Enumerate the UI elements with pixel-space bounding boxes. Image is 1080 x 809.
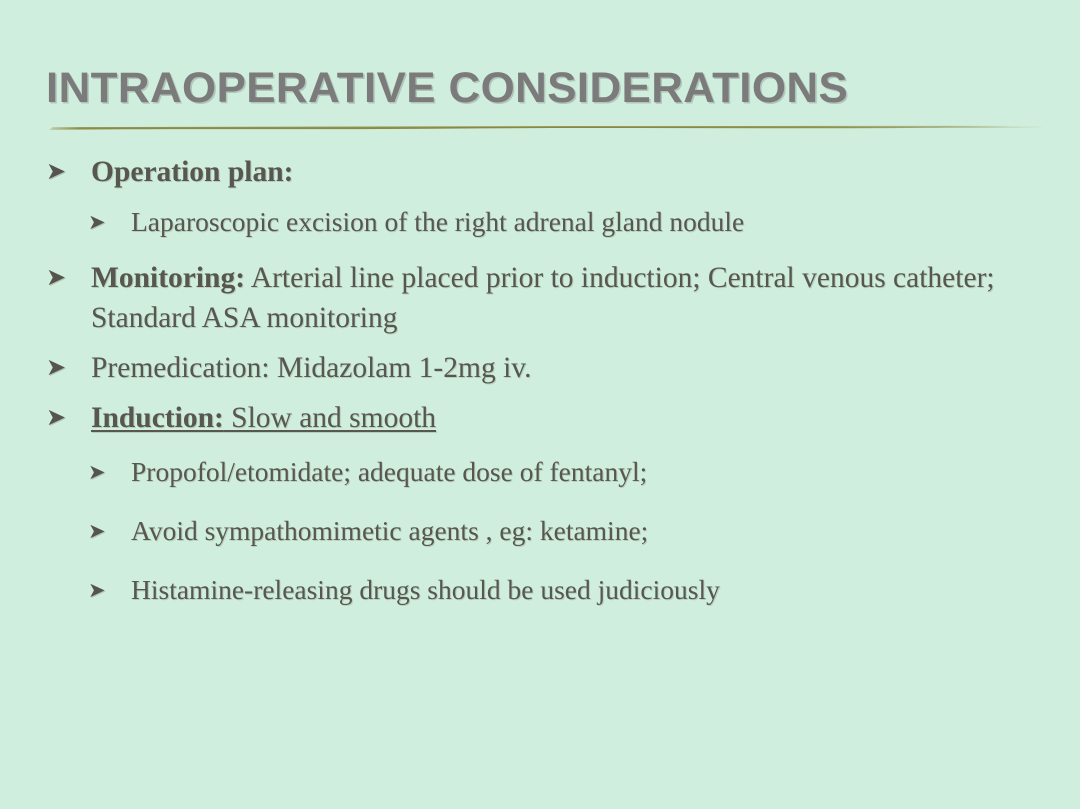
operation-plan-label: Operation plan: bbox=[91, 156, 293, 188]
page-title: INTRAOPERATIVE CONSIDERATIONS bbox=[46, 63, 1066, 113]
title-block: INTRAOPERATIVE CONSIDERATIONS bbox=[46, 63, 1046, 113]
bullet-arrow-icon: ➤ bbox=[46, 398, 91, 438]
bullet-arrow-icon: ➤ bbox=[88, 511, 131, 551]
bullet-arrow-icon: ➤ bbox=[46, 152, 91, 192]
bullet-operation-plan-text: Operation plan: bbox=[91, 152, 1046, 192]
bullet-arrow-icon: ➤ bbox=[46, 258, 91, 298]
slide-canvas: INTRAOPERATIVE CONSIDERATIONS ➤ bbox=[0, 0, 1080, 809]
bullet-operation-plan: ➤ Operation plan: bbox=[46, 152, 1046, 192]
bullet-induction: ➤ Induction: Slow and smooth bbox=[46, 398, 1046, 438]
bullet-arrow-icon: ➤ bbox=[88, 452, 131, 492]
bullet-induction-text: Induction: Slow and smooth bbox=[91, 398, 1046, 438]
title-divider-rule bbox=[48, 124, 1044, 131]
bullet-monitoring-text: Monitoring: Arterial line placed prior t… bbox=[91, 258, 1046, 338]
bullet-premedication-text: Premedication: Midazolam 1-2mg iv. bbox=[91, 348, 1046, 388]
bullet-laparoscopic-excision: ➤ Laparoscopic excision of the right adr… bbox=[88, 202, 1046, 242]
laparoscopic-excision-text: Laparoscopic excision of the right adren… bbox=[131, 202, 1046, 242]
bullet-histamine-releasing: ➤ Histamine-releasing drugs should be us… bbox=[88, 570, 1046, 610]
divider-brushstroke-icon bbox=[48, 124, 1044, 131]
propofol-etomidate-text: Propofol/etomidate; adequate dose of fen… bbox=[131, 452, 1046, 492]
bullet-propofol-etomidate: ➤ Propofol/etomidate; adequate dose of f… bbox=[88, 452, 1046, 492]
induction-detail: Slow and smooth bbox=[224, 402, 436, 434]
histamine-releasing-text: Histamine-releasing drugs should be used… bbox=[131, 570, 1046, 610]
avoid-sympathomimetics-text: Avoid sympathomimetic agents , eg: ketam… bbox=[131, 511, 1046, 551]
bullet-premedication: ➤ Premedication: Midazolam 1-2mg iv. bbox=[46, 348, 1046, 388]
bullet-monitoring: ➤ Monitoring: Arterial line placed prior… bbox=[46, 258, 1046, 338]
bullet-avoid-sympathomimetics: ➤ Avoid sympathomimetic agents , eg: ket… bbox=[88, 511, 1046, 551]
bullet-arrow-icon: ➤ bbox=[88, 570, 131, 610]
body-content: ➤ Operation plan: ➤ Laparoscopic excisio… bbox=[46, 152, 1046, 628]
bullet-arrow-icon: ➤ bbox=[46, 348, 91, 388]
monitoring-label: Monitoring: bbox=[91, 262, 245, 294]
bullet-arrow-icon: ➤ bbox=[88, 202, 131, 242]
induction-label: Induction: bbox=[91, 402, 224, 434]
induction-underlined-group: Induction: Slow and smooth bbox=[91, 402, 436, 434]
